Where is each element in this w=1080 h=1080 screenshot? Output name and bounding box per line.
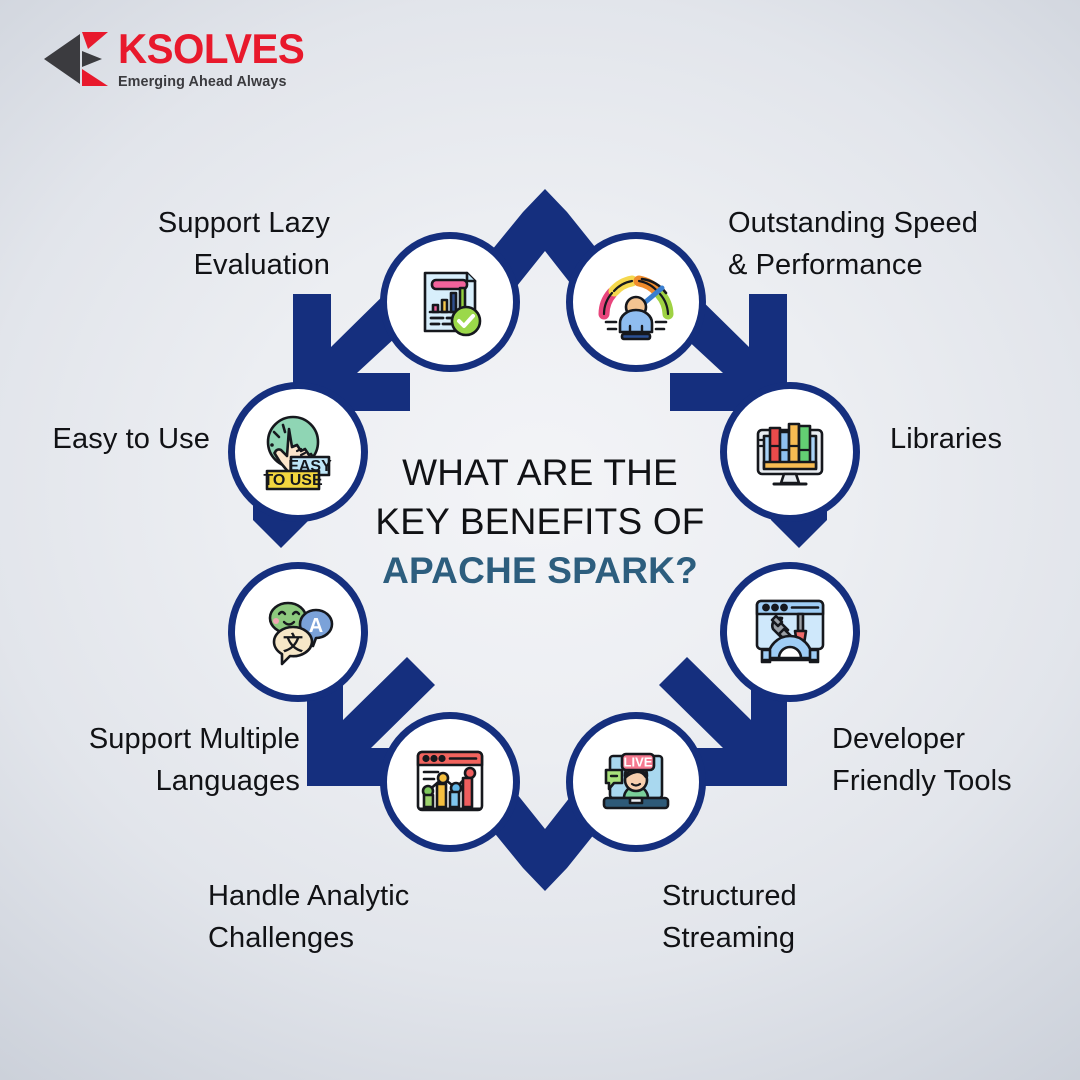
svg-text:A: A bbox=[309, 615, 323, 637]
hand-click-easy-to-use-icon: EASY TO USE bbox=[255, 409, 341, 495]
label-line1: Handle Analytic bbox=[208, 875, 488, 917]
label-support-lazy-evaluation: Support Lazy Evaluation bbox=[60, 202, 330, 286]
node-structured-streaming[interactable]: LIVE bbox=[566, 712, 706, 852]
center-title: WHAT ARE THE KEY BENEFITS OF APACHE SPAR… bbox=[370, 448, 710, 595]
label-developer-friendly-tools: Developer Friendly Tools bbox=[832, 718, 1062, 802]
label-easy-to-use: Easy to Use bbox=[20, 418, 210, 460]
label-line1: Support Lazy bbox=[60, 202, 330, 244]
svg-text:文: 文 bbox=[283, 631, 304, 655]
label-line2: & Performance bbox=[728, 244, 1048, 286]
laptop-live-stream-icon: LIVE bbox=[594, 740, 678, 824]
label-outstanding-speed-performance: Outstanding Speed & Performance bbox=[728, 202, 1048, 286]
infographic-canvas: KSOLVES Emerging Ahead Always bbox=[0, 0, 1080, 1080]
speedometer-person-icon bbox=[594, 260, 678, 344]
node-support-lazy-evaluation[interactable] bbox=[380, 232, 520, 372]
node-libraries[interactable] bbox=[720, 382, 860, 522]
label-line2: Friendly Tools bbox=[832, 760, 1062, 802]
label-line2: Languages bbox=[20, 760, 300, 802]
monitor-books-icon bbox=[748, 410, 832, 494]
label-line2: Evaluation bbox=[60, 244, 330, 286]
label-line2: Streaming bbox=[662, 917, 912, 959]
label-line1: Support Multiple bbox=[20, 718, 300, 760]
label-line2: Challenges bbox=[208, 917, 488, 959]
label-line1: Libraries bbox=[890, 418, 1070, 460]
browser-analytics-chart-icon bbox=[408, 740, 492, 824]
label-line1: Easy to Use bbox=[20, 418, 210, 460]
document-bar-chart-check-icon bbox=[409, 261, 491, 343]
svg-text:TO USE: TO USE bbox=[263, 472, 323, 489]
center-title-line1: WHAT ARE THE bbox=[370, 448, 710, 497]
node-developer-friendly-tools[interactable] bbox=[720, 562, 860, 702]
center-title-line3: APACHE SPARK? bbox=[370, 546, 710, 595]
speech-bubbles-translate-icon: A 文 bbox=[256, 590, 340, 674]
node-easy-to-use[interactable]: EASY TO USE bbox=[228, 382, 368, 522]
svg-text:LIVE: LIVE bbox=[624, 755, 653, 770]
label-structured-streaming: Structured Streaming bbox=[662, 875, 912, 959]
label-libraries: Libraries bbox=[890, 418, 1070, 460]
node-handle-analytic-challenges[interactable] bbox=[380, 712, 520, 852]
center-title-line2: KEY BENEFITS OF bbox=[370, 497, 710, 546]
label-line1: Developer bbox=[832, 718, 1062, 760]
benefits-ring: WHAT ARE THE KEY BENEFITS OF APACHE SPAR… bbox=[0, 0, 1080, 1080]
label-line1: Outstanding Speed bbox=[728, 202, 1048, 244]
label-handle-analytic-challenges: Handle Analytic Challenges bbox=[208, 875, 488, 959]
label-line1: Structured bbox=[662, 875, 912, 917]
node-support-multiple-languages[interactable]: A 文 bbox=[228, 562, 368, 702]
node-outstanding-speed-performance[interactable] bbox=[566, 232, 706, 372]
browser-wrench-gear-icon bbox=[748, 590, 832, 674]
label-support-multiple-languages: Support Multiple Languages bbox=[20, 718, 300, 802]
